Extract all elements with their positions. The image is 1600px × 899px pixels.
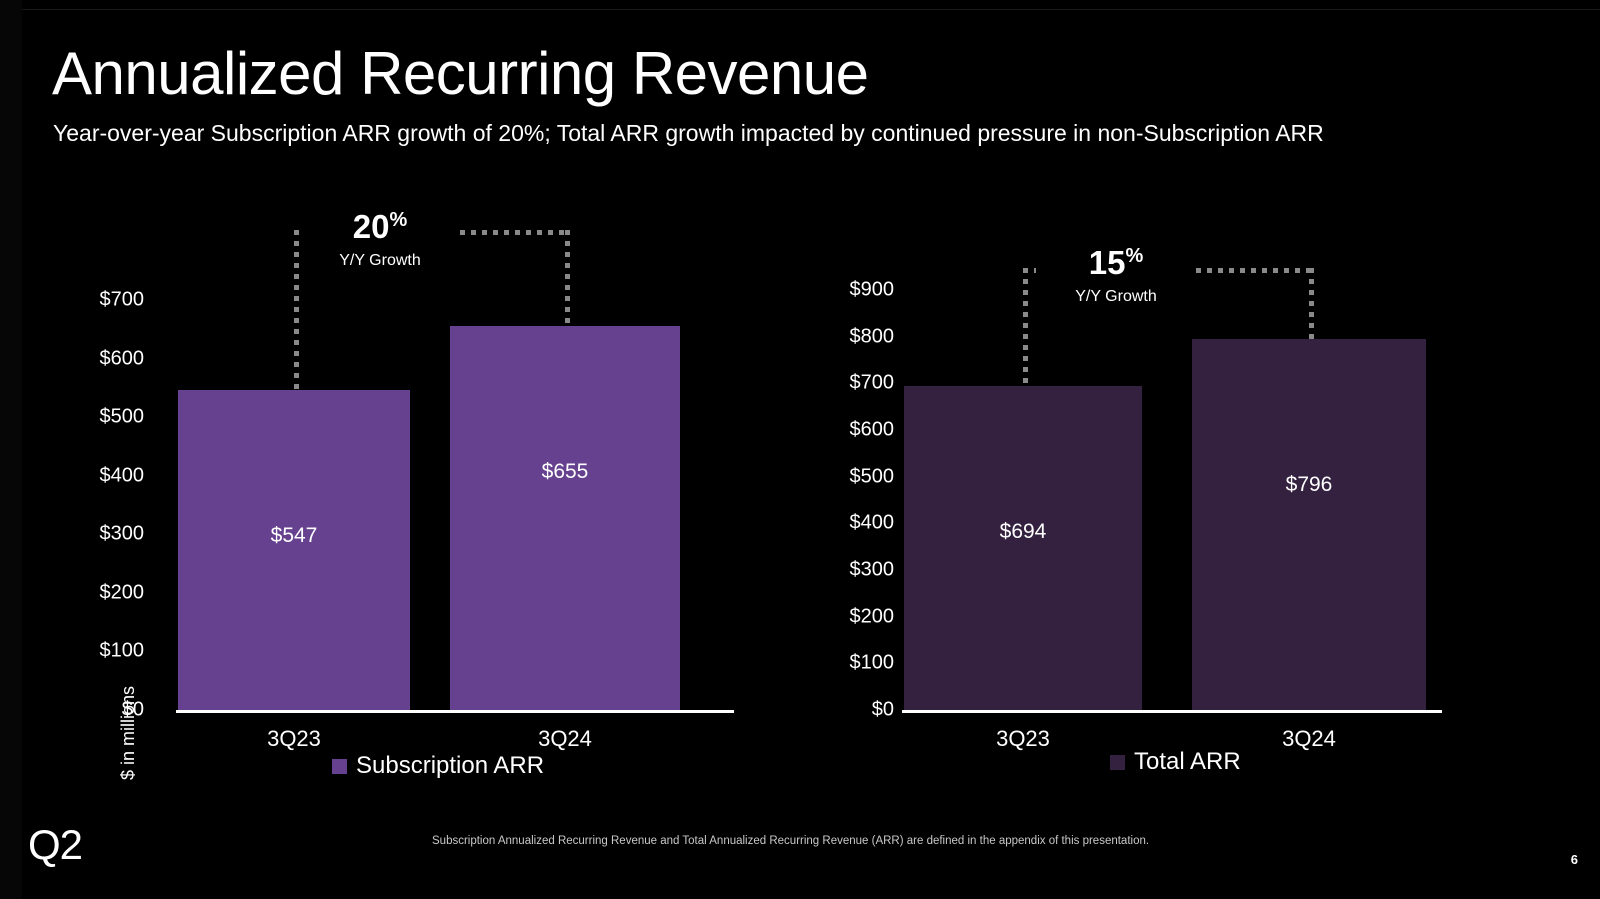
growth-percent-value: 15% — [1036, 246, 1196, 279]
page-subtitle: Year-over-year Subscription ARR growth o… — [53, 120, 1324, 147]
growth-connector-right-horizontal — [460, 230, 565, 235]
slide-left-edge — [0, 0, 22, 899]
q2-logo: Q2 — [28, 824, 82, 866]
chart-subscription-arr: $ in millions $0$100$200$300$400$500$600… — [40, 180, 760, 800]
bar-value-label: $796 — [1192, 473, 1426, 497]
bar-value-label: $694 — [904, 520, 1142, 544]
legend-label: Total ARR — [1134, 748, 1241, 776]
bar-3q23[interactable] — [178, 390, 410, 710]
page-number: 6 — [1571, 852, 1578, 867]
bar-3q24[interactable] — [450, 326, 680, 710]
growth-connector-left-vertical — [294, 230, 299, 390]
legend-swatch-icon — [332, 759, 347, 774]
growth-connector-right-vertical — [565, 230, 570, 326]
slide-canvas: Annualized Recurring Revenue Year-over-y… — [0, 0, 1600, 899]
x-axis-line — [176, 710, 734, 713]
growth-percent-number: 15 — [1089, 244, 1126, 281]
bar-value-label: $547 — [178, 524, 410, 548]
growth-percent-number: 20 — [353, 208, 390, 245]
x-category-label: 3Q23 — [904, 726, 1142, 752]
percent-sign-icon: % — [389, 209, 407, 231]
footnote-text: Subscription Annualized Recurring Revenu… — [432, 835, 1149, 847]
percent-sign-icon: % — [1125, 245, 1143, 267]
x-category-label: 3Q23 — [178, 726, 410, 752]
slide-top-edge — [0, 0, 1600, 10]
legend-swatch-icon — [1110, 755, 1125, 770]
bar-value-label: $655 — [450, 460, 680, 484]
plot-area-right: $6943Q23$7963Q2415%Y/Y Growth — [800, 180, 1560, 800]
growth-caption: Y/Y Growth — [1036, 288, 1196, 306]
chart-total-arr: $ in millions $0$100$200$300$400$500$600… — [800, 180, 1560, 800]
growth-caption: Y/Y Growth — [300, 252, 460, 270]
chart-legend: Total ARR — [1110, 748, 1241, 776]
plot-area-left: $5473Q23$6553Q2420%Y/Y Growth — [40, 180, 800, 800]
growth-connector-right-horizontal — [1196, 268, 1309, 273]
bar-3q24[interactable] — [1192, 339, 1426, 710]
legend-label: Subscription ARR — [356, 752, 544, 780]
growth-connector-right-vertical — [1309, 268, 1314, 339]
page-title: Annualized Recurring Revenue — [52, 42, 869, 105]
growth-percent-value: 20% — [300, 210, 460, 243]
chart-legend: Subscription ARR — [332, 752, 544, 780]
x-category-label: 3Q24 — [450, 726, 680, 752]
growth-connector-left-vertical — [1023, 268, 1028, 386]
x-axis-line — [902, 710, 1442, 713]
bar-3q23[interactable] — [904, 386, 1142, 710]
